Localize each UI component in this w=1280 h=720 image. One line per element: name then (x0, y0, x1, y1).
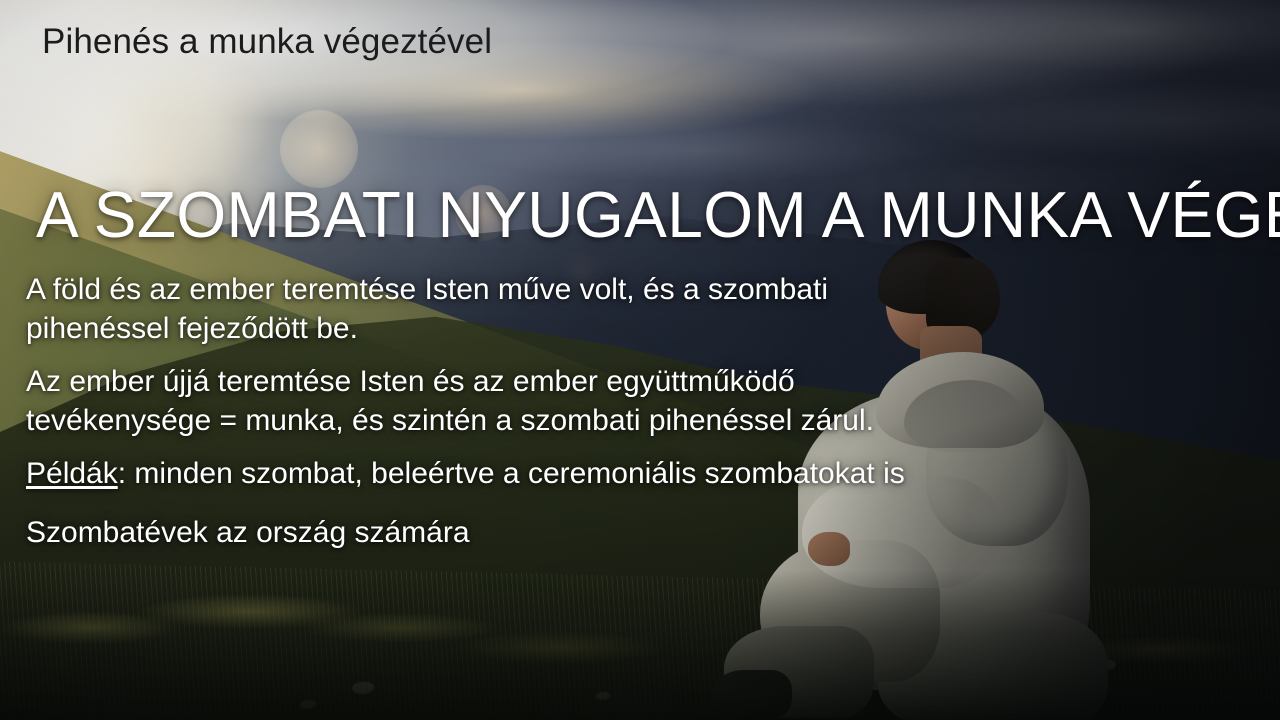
presentation-slide: Pihenés a munka végeztével A SZOMBATI NY… (0, 0, 1280, 720)
slide-title: A SZOMBATI NYUGALOM A MUNKA VÉGEZTÉVEL (36, 182, 1280, 247)
slide-body: A föld és az ember teremtése Isten műve … (26, 270, 926, 552)
slide-kicker: Pihenés a munka végeztével (42, 22, 492, 62)
body-paragraph-3: Példák: minden szombat, beleértve a cere… (26, 454, 926, 493)
body-paragraph-4: Szombatévek az ország számára (26, 513, 926, 552)
examples-text: : minden szombat, beleértve a ceremoniál… (118, 457, 905, 490)
slide-content: Pihenés a munka végeztével A SZOMBATI NY… (0, 0, 1280, 720)
body-paragraph-1: A föld és az ember teremtése Isten műve … (26, 270, 926, 348)
body-paragraph-2: Az ember újjá teremtése Isten és az embe… (26, 362, 926, 440)
examples-label: Példák (26, 457, 118, 490)
